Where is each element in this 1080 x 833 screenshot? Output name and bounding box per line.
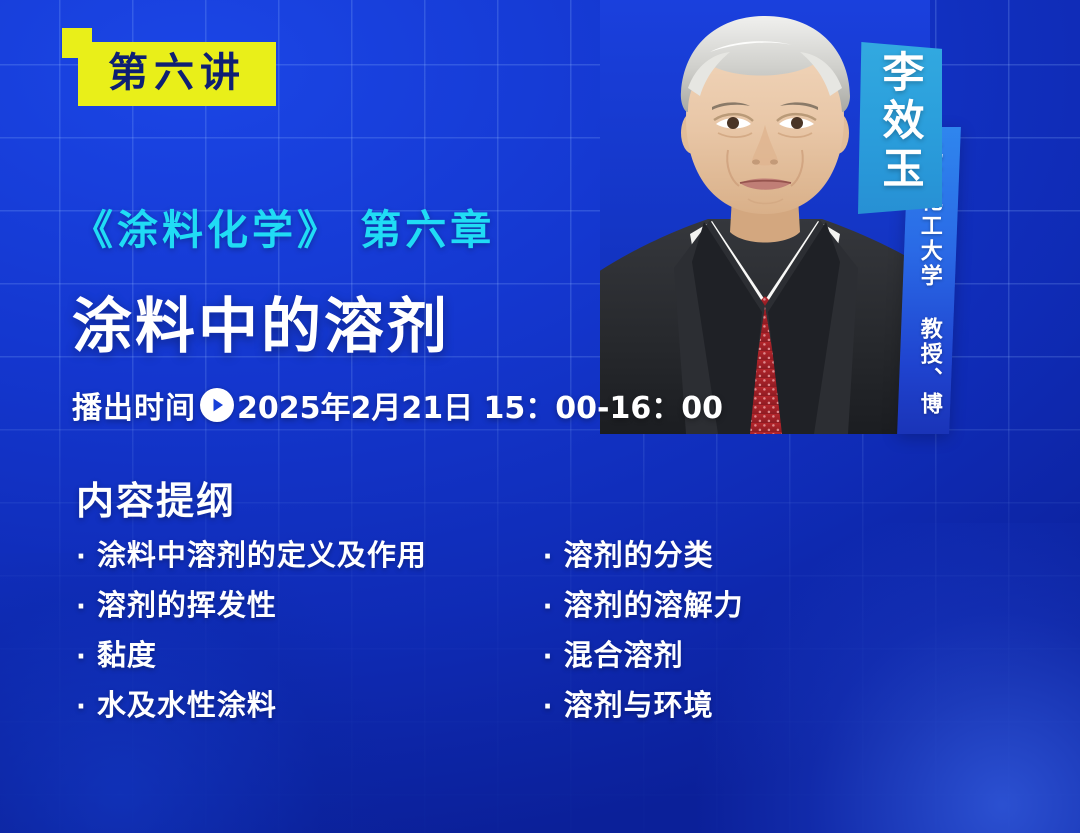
lecture-poster: 第六讲 《涂料化学》 第六章 涂料中的溶剂 播出时间 2025年2月21日 15… — [0, 0, 1080, 833]
list-item-label: 溶剂的分类 — [564, 532, 714, 574]
speaker-name-ribbon: 李效玉 — [858, 42, 942, 214]
list-item-label: 黏度 — [97, 632, 157, 674]
bullet-icon: · — [76, 694, 87, 720]
list-item: · 涂料中溶剂的定义及作用 — [76, 532, 487, 582]
outline-columns: · 涂料中溶剂的定义及作用 · 溶剂的挥发性 · 黏度 · 水及水性涂料 · 溶… — [76, 532, 836, 732]
outline-heading: 内容提纲 — [76, 470, 236, 525]
speaker-name: 李效玉 — [858, 50, 942, 194]
list-item: · 水及水性涂料 — [76, 682, 487, 732]
airtime-value: 2025年2月21日 15：00-16：00 — [237, 383, 723, 427]
list-item-label: 溶剂的溶解力 — [564, 582, 744, 624]
airtime-row: 播出时间 2025年2月21日 15：00-16：00 — [72, 383, 723, 427]
play-icon[interactable] — [200, 388, 234, 422]
list-item-label: 水及水性涂料 — [97, 682, 277, 724]
list-item-label: 涂料中溶剂的定义及作用 — [97, 532, 427, 574]
bullet-icon: · — [543, 644, 554, 670]
bullet-icon: · — [543, 694, 554, 720]
list-item: · 溶剂的溶解力 — [543, 582, 836, 632]
outline-column-left: · 涂料中溶剂的定义及作用 · 溶剂的挥发性 · 黏度 · 水及水性涂料 — [76, 532, 487, 732]
bullet-icon: · — [76, 544, 87, 570]
course-subtitle: 《涂料化学》 第六章 — [72, 196, 495, 256]
bullet-icon: · — [543, 544, 554, 570]
list-item: · 黏度 — [76, 632, 487, 682]
list-item: · 溶剂的分类 — [543, 532, 836, 582]
bullet-icon: · — [543, 594, 554, 620]
airtime-label: 播出时间 — [72, 383, 196, 427]
list-item-label: 溶剂的挥发性 — [97, 582, 277, 624]
list-item-label: 混合溶剂 — [564, 632, 684, 674]
lecture-badge-label: 第六讲 — [108, 53, 246, 93]
list-item: · 溶剂与环境 — [543, 682, 836, 732]
bullet-icon: · — [76, 594, 87, 620]
list-item: · 混合溶剂 — [543, 632, 836, 682]
page-title: 涂料中的溶剂 — [72, 297, 450, 357]
list-item: · 溶剂的挥发性 — [76, 582, 487, 632]
lecture-badge-box: 第六讲 — [78, 42, 276, 106]
outline-column-right: · 溶剂的分类 · 溶剂的溶解力 · 混合溶剂 · 溶剂与环境 — [543, 532, 836, 732]
bullet-icon: · — [76, 644, 87, 670]
list-item-label: 溶剂与环境 — [564, 682, 714, 724]
